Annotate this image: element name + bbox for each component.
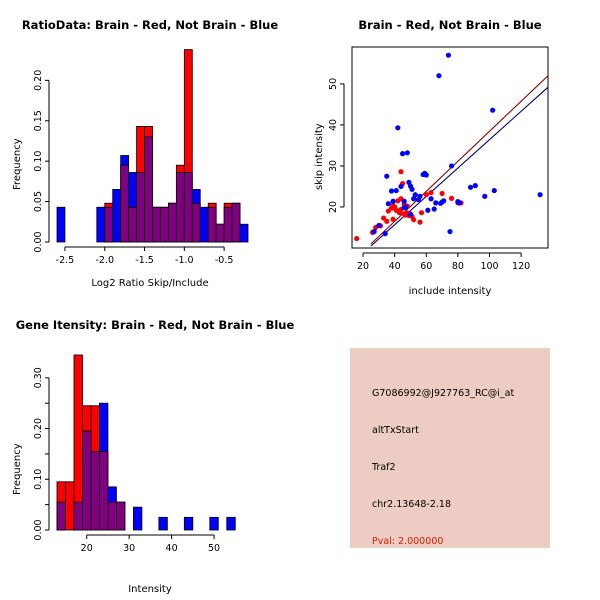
scatter-y-tick-label: 50 — [328, 78, 339, 90]
ratio-x-tick-label: -2.0 — [95, 255, 114, 266]
scatter-point — [439, 191, 444, 196]
histogram-bar-overlap — [208, 207, 216, 242]
scatter-point — [400, 151, 405, 156]
ratio-y-tick-label: 0.05 — [33, 191, 44, 212]
info-gene-symbol: Traf2 — [372, 462, 396, 473]
ratio-x-tick-label: -1.0 — [175, 255, 194, 266]
histogram-bar-overlap — [216, 224, 224, 242]
histogram-bar-overlap — [184, 172, 192, 242]
histogram-bar-overlap — [108, 502, 116, 530]
scatter-x-tick-label: 80 — [452, 261, 464, 272]
gene-histogram-panel: Gene Itensity: Brain - Red, Not Brain - … — [0, 300, 300, 600]
scatter-point — [384, 174, 389, 179]
scatter-point — [394, 188, 399, 193]
histogram-bar — [113, 189, 121, 242]
scatter-point — [403, 204, 408, 209]
histogram-bar — [200, 207, 208, 242]
histogram-bar-overlap — [105, 207, 113, 242]
histogram-bar-overlap — [137, 172, 145, 242]
histogram-bar-overlap — [91, 451, 99, 530]
histogram-bar — [57, 207, 65, 242]
histogram-bar — [227, 517, 235, 530]
scatter-point — [449, 163, 454, 168]
histogram-bar-overlap — [99, 451, 107, 530]
scatter-point — [354, 236, 359, 241]
histogram-bar-overlap — [160, 207, 168, 242]
ratio-y-tick-label: 0.10 — [33, 151, 44, 172]
scatter-x-tick-label: 100 — [480, 261, 498, 272]
scatter-point — [389, 188, 394, 193]
histogram-bar — [65, 482, 73, 530]
histogram-bar-overlap — [153, 207, 161, 242]
gene-x-tick-label: 30 — [123, 543, 135, 554]
info-probe-id: G7086992@J927763_RC@i_at — [372, 388, 514, 399]
ratio-y-tick-label: 0.15 — [33, 110, 44, 131]
scatter-point — [383, 231, 388, 236]
gene-x-tick-label: 50 — [208, 543, 220, 554]
histogram-bar-overlap — [192, 203, 200, 242]
scatter-fit-line — [371, 87, 548, 246]
scatter-y-tick-label: 30 — [328, 160, 339, 172]
info-pval: Pval: 2.000000 — [372, 536, 443, 547]
scatter-point — [398, 169, 403, 174]
scatter-panel: Brain - Red, Not Brain - Blue skip inten… — [300, 0, 600, 300]
scatter-point — [390, 199, 395, 204]
scatter-plot: 2040608010012020304050 — [300, 0, 600, 300]
histogram-bar-overlap — [57, 502, 65, 530]
ratio-histogram-panel: RatioData: Brain - Red, Not Brain - Blue… — [0, 0, 300, 300]
scatter-point — [419, 210, 424, 215]
histogram-bar-overlap — [121, 165, 129, 242]
scatter-point — [402, 199, 407, 204]
scatter-point — [446, 53, 451, 58]
histogram-bar-overlap — [116, 502, 124, 530]
scatter-point — [398, 184, 403, 189]
ratio-y-tick-label: 0.20 — [33, 70, 44, 91]
scatter-point — [424, 192, 429, 197]
scatter-point — [417, 194, 422, 199]
info-event-type: altTxStart — [372, 425, 419, 436]
scatter-point — [468, 185, 473, 190]
scatter-point — [409, 187, 414, 192]
histogram-bar — [210, 517, 218, 530]
histogram-bar-overlap — [168, 203, 176, 242]
scatter-point — [432, 206, 437, 211]
ratio-x-tick-label: -2.5 — [56, 255, 75, 266]
scatter-x-tick-label: 60 — [420, 261, 432, 272]
gene-y-tick-label: 0.20 — [33, 418, 44, 439]
gene-y-tick-label: 0.00 — [33, 519, 44, 540]
histogram-bar — [240, 224, 248, 242]
scatter-point — [436, 73, 441, 78]
histogram-bar — [97, 207, 105, 242]
scatter-point — [447, 229, 452, 234]
scatter-point — [376, 223, 381, 228]
scatter-point — [390, 217, 395, 222]
scatter-points-group — [354, 53, 548, 246]
gene-y-tick-label: 0.30 — [33, 367, 44, 388]
info-locus: chr2.13648-2.18 — [372, 499, 451, 510]
ratio-x-tick-label: -0.5 — [215, 255, 234, 266]
histogram-bar — [184, 517, 192, 530]
gene-histogram-plot: 203040500.000.100.200.30 — [0, 300, 300, 600]
histogram-bar-overlap — [82, 431, 90, 530]
histogram-bar — [133, 507, 141, 530]
scatter-point — [490, 108, 495, 113]
scatter-point — [417, 220, 422, 225]
scatter-x-tick-label: 40 — [389, 261, 401, 272]
gene-x-tick-label: 40 — [166, 543, 178, 554]
scatter-point — [492, 188, 497, 193]
scatter-point — [384, 219, 389, 224]
scatter-point — [537, 192, 542, 197]
scatter-point — [441, 198, 446, 203]
histogram-bar-overlap — [129, 207, 137, 242]
gene-x-tick-label: 20 — [81, 543, 93, 554]
gene-y-tick-label: 0.10 — [33, 469, 44, 490]
histogram-bar — [159, 517, 167, 530]
scatter-point — [449, 196, 454, 201]
scatter-point — [408, 212, 413, 217]
scatter-point — [428, 196, 433, 201]
scatter-point — [413, 192, 418, 197]
scatter-point — [473, 183, 478, 188]
ratio-histogram-plot: -2.5-2.0-1.5-1.0-0.50.000.050.100.150.20 — [0, 0, 300, 300]
scatter-point — [482, 194, 487, 199]
scatter-point — [424, 172, 429, 177]
scatter-point — [425, 208, 430, 213]
scatter-x-tick-label: 120 — [512, 261, 530, 272]
histogram-bar-overlap — [145, 137, 153, 242]
ratio-y-tick-label: 0.00 — [33, 231, 44, 252]
scatter-y-tick-label: 20 — [328, 201, 339, 213]
gene-info-panel: G7086992@J927763_RC@i_at altTxStart Traf… — [350, 348, 550, 548]
histogram-bar-overlap — [232, 203, 240, 242]
scatter-point — [405, 150, 410, 155]
scatter-point — [386, 201, 391, 206]
scatter-point — [372, 229, 377, 234]
histogram-bar-overlap — [74, 502, 82, 530]
scatter-point — [457, 200, 462, 205]
ratio-x-tick-label: -1.5 — [135, 255, 154, 266]
histogram-bar-overlap — [224, 207, 232, 242]
scatter-x-tick-label: 20 — [357, 261, 369, 272]
scatter-y-tick-label: 40 — [328, 119, 339, 131]
scatter-fit-line — [371, 76, 548, 244]
scatter-point — [428, 190, 433, 195]
scatter-point — [411, 217, 416, 222]
histogram-bar-overlap — [176, 172, 184, 242]
scatter-point — [395, 125, 400, 130]
scatter-point — [433, 200, 438, 205]
